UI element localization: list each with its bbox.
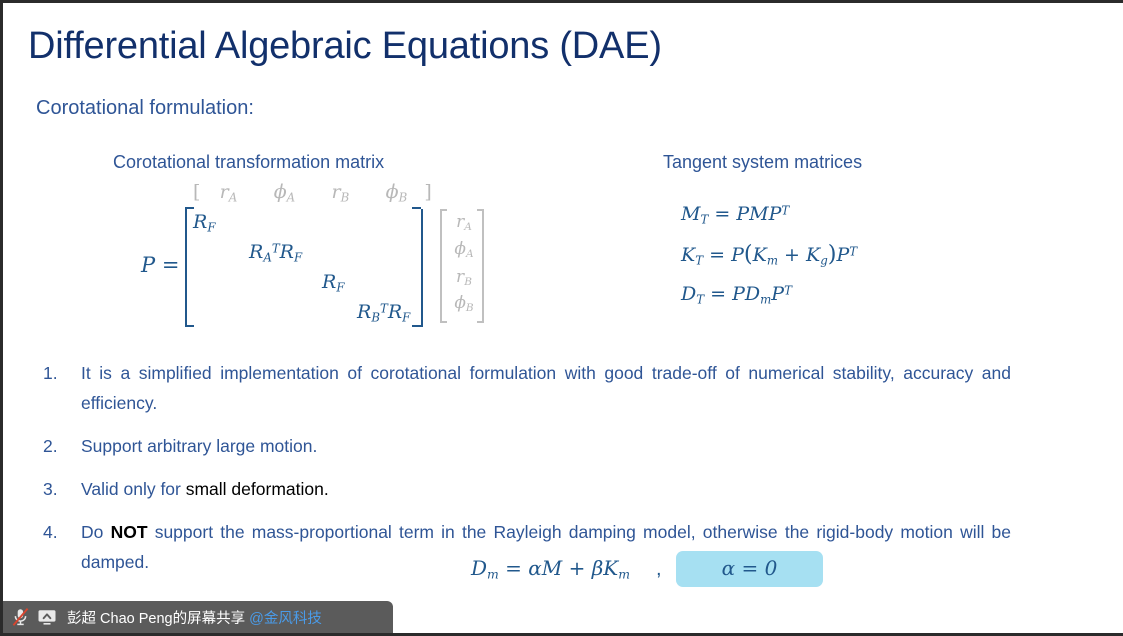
slide-subtitle: Corotational formulation: [36,97,254,120]
list-item-text: It is a simplified implementation of cor… [81,358,1011,418]
alpha-zero-highlight: α = 0 [676,551,824,587]
dof-entry-rb: rB [442,267,486,288]
tangent-equations: MT = PMPT KT = P(Km + Kg)PT DT = PDmPT [681,203,857,321]
dof-entry-ra: rA [442,212,486,233]
equation-stiffness-tangent: KT = P(Km + Kg)PT [681,241,857,267]
matrix-column-label-ra: rA [200,181,256,204]
list-item-text-plain: Valid only for [81,479,186,499]
presentation-slide: Differential Algebraic Equations (DAE) C… [0,0,1123,636]
matrix-column-label-rb: rB [312,181,368,204]
matrix-entry-4: RBTRF [357,301,410,324]
microphone-muted-icon[interactable] [11,607,30,627]
corotational-matrix-block: [rAϕArBϕB] P = RF RATRF RF RBTRF rA ϕA r… [133,181,533,346]
matrix-entry-1: RF [193,211,215,234]
list-item-text-strong: NOT [111,522,148,542]
share-owner-label: 彭超 Chao Peng的屏幕共享 [67,607,245,628]
damping-equation-row: Dm = αM + βKm , α = 0 [471,551,823,587]
list-item-number: 4. [43,517,81,547]
page-title: Differential Algebraic Equations (DAE) [28,25,662,68]
dof-column-vector: rA ϕA rB ϕB [440,211,484,323]
matrix-entry-2: RATRF [249,241,302,264]
list-item-text-lead: Do [81,522,111,542]
matrix-lhs-label: P = [141,253,179,277]
section-heading-tangent: Tangent system matrices [663,152,862,173]
list-item: 1. It is a simplified implementation of … [43,358,1011,418]
matrix-entry-3: RF [322,271,344,294]
matrix-column-label-phia: ϕA [256,181,312,204]
list-item-number: 1. [43,358,81,388]
list-item: 2. Support arbitrary large motion. [43,431,1011,461]
list-item-number: 2. [43,431,81,461]
list-item-text: Valid only for small deformation. [81,474,1011,504]
screen-share-bar[interactable]: 彭超 Chao Peng的屏幕共享 @金风科技 [3,601,393,633]
matrix-column-label-phib: ϕB [368,181,424,204]
dof-entry-phia: ϕA [442,239,486,260]
share-organization-label: @金风科技 [249,607,322,628]
matrix-column-labels: [rAϕArBϕB] [193,181,432,204]
transformation-matrix: RF RATRF RF RBTRF [185,209,423,327]
list-item-number: 3. [43,474,81,504]
equation-mass-tangent: MT = PMPT [681,203,857,226]
list-item: 3. Valid only for small deformation. [43,474,1011,504]
list-item-text: Support arbitrary large motion. [81,431,1011,461]
equation-damping-tangent: DT = PDmPT [681,283,857,306]
equation-separator: , [656,558,662,581]
list-item-text-emphasis: small deformation. [186,479,329,499]
screen-share-icon[interactable] [37,608,57,626]
section-heading-corotational: Corotational transformation matrix [113,152,384,173]
equation-rayleigh-damping: Dm = αM + βKm [471,556,630,581]
dof-entry-phib: ϕB [442,293,486,314]
